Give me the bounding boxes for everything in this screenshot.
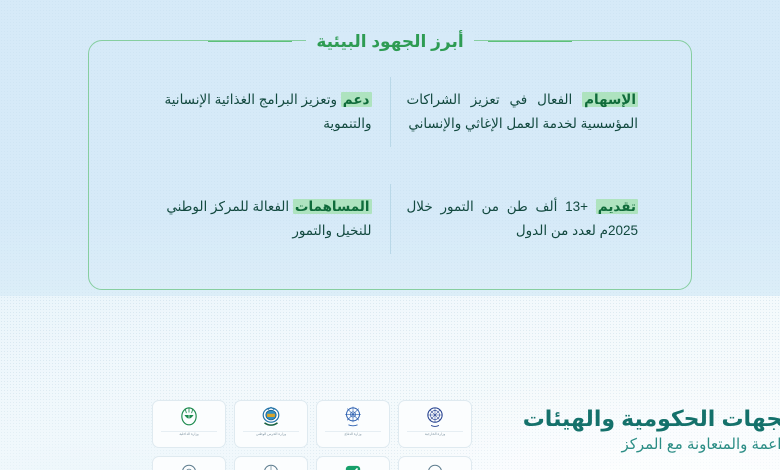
partner-emblem-icon (176, 460, 202, 470)
page-title: أبرز الجهود البيئية (306, 33, 473, 50)
partner-tile[interactable] (316, 456, 390, 470)
effort-highlight-top-left: الإسهام (582, 92, 638, 107)
effort-item-bottom-right: المساهمات الفعالة للمركز الوطني للنخيل و… (116, 165, 390, 272)
partner-caption: وزارة الحرس الوطني (256, 433, 286, 436)
effort-highlight-bottom-right: المساهمات (293, 199, 372, 214)
partners-heading: الجهات الحكومية والهيئات الداعمة والمتعا… (468, 406, 780, 454)
header-rule-start (488, 41, 572, 42)
partner-caption: وزارة الداخلية (179, 433, 198, 436)
effort-text-bottom-left: تقديم +13 ألف طن من التمور خلال 2025م لع… (407, 195, 639, 241)
effort-highlight-top-right: دعم (341, 92, 372, 107)
efforts-grid: الإسهام الفعال في تعزيز الشراكات المؤسسي… (88, 40, 692, 290)
partner-caption: وزارة الدفاع (345, 433, 362, 436)
partner-emblem-green-icon (340, 460, 366, 470)
effort-text-top-left: الإسهام الفعال في تعزيز الشراكات المؤسسي… (407, 88, 639, 134)
partners-subtitle: الداعمة والمتعاونة مع المركز (468, 435, 780, 455)
partner-tile[interactable]: وزارة الداخلية (152, 400, 226, 448)
partner-tile[interactable] (152, 456, 226, 470)
header-rule-end (208, 41, 292, 42)
partner-caption: وزارة الخارجية (425, 433, 445, 436)
effort-text-top-right: دعم وتعزيز البرامج الغذائية الإنسانية وا… (142, 88, 372, 134)
partner-tile[interactable] (234, 456, 308, 470)
section-header: أبرز الجهود البيئية (88, 26, 692, 56)
partner-tile[interactable]: وزارة الخارجية (398, 400, 472, 448)
partner-emblem-icon (258, 460, 284, 470)
partner-emblem-icon (422, 460, 448, 470)
column-divider-bottom (390, 184, 391, 254)
ministry-of-defense-emblem-icon (340, 404, 366, 430)
effort-item-bottom-left: تقديم +13 ألف طن من التمور خلال 2025م لع… (391, 165, 665, 272)
ministry-of-interior-emblem-icon (176, 404, 202, 430)
effort-text-bottom-right: المساهمات الفعالة للمركز الوطني للنخيل و… (142, 195, 372, 241)
partner-logo-grid: وزارة الخارجية وزارة الدفاع (152, 400, 472, 470)
partners-section: الجهات الحكومية والهيئات الداعمة والمتعا… (0, 296, 780, 470)
effort-highlight-bottom-left: تقديم (596, 199, 638, 214)
ministry-foreign-affairs-emblem-icon (422, 404, 448, 430)
infographic-slide: أبرز الجهود البيئية الإسهام الفعال في تع… (0, 0, 780, 470)
effort-item-top-left: الإسهام الفعال في تعزيز الشراكات المؤسسي… (391, 58, 665, 165)
effort-item-top-right: دعم وتعزيز البرامج الغذائية الإنسانية وا… (116, 58, 390, 165)
column-divider-top (390, 77, 391, 147)
partners-title: الجهات الحكومية والهيئات (468, 406, 780, 432)
partner-tile[interactable] (398, 456, 472, 470)
national-guard-emblem-icon (258, 404, 284, 430)
partner-tile[interactable]: وزارة الحرس الوطني (234, 400, 308, 448)
partner-tile[interactable]: وزارة الدفاع (316, 400, 390, 448)
